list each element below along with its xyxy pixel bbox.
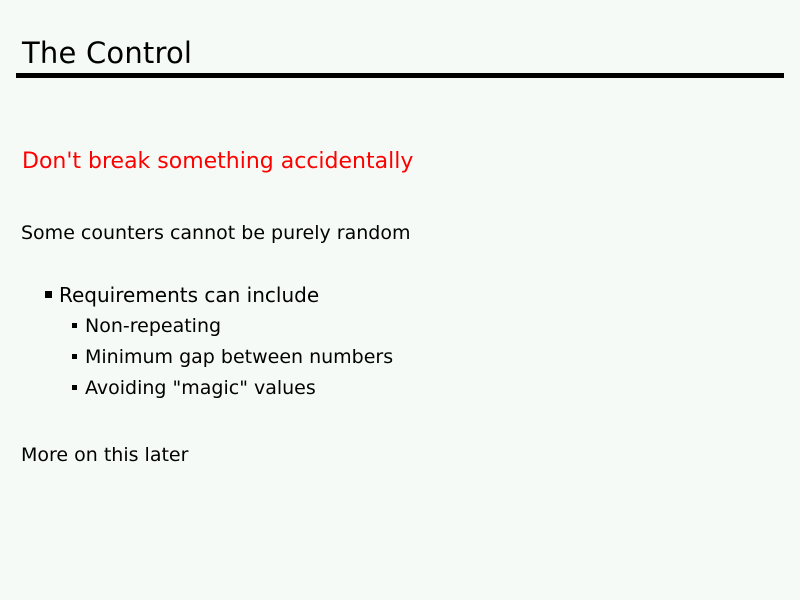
list-item: Requirements can include [0, 283, 800, 314]
list-item: Non-repeating [0, 314, 800, 345]
square-bullet-icon [72, 354, 77, 359]
list-item-label: Minimum gap between numbers [85, 345, 393, 369]
square-bullet-icon [45, 291, 52, 298]
warning-heading: Don't break something accidentally [22, 148, 413, 175]
presentation-slide: The Control Don't break something accide… [0, 0, 800, 600]
list-item: Minimum gap between numbers [0, 345, 800, 376]
square-bullet-icon [72, 323, 77, 328]
bullet-list: Requirements can include Non-repeating M… [0, 283, 800, 407]
list-item-label: Avoiding "magic" values [85, 376, 316, 400]
list-item-label: Non-repeating [85, 314, 221, 338]
slide-body: Don't break something accidentally Some … [0, 0, 800, 600]
body-paragraph-first: Some counters cannot be purely random [21, 221, 410, 245]
body-paragraph-last: More on this later [21, 443, 188, 467]
list-item: Avoiding "magic" values [0, 376, 800, 407]
square-bullet-icon [72, 385, 77, 390]
list-item-label: Requirements can include [59, 283, 319, 307]
